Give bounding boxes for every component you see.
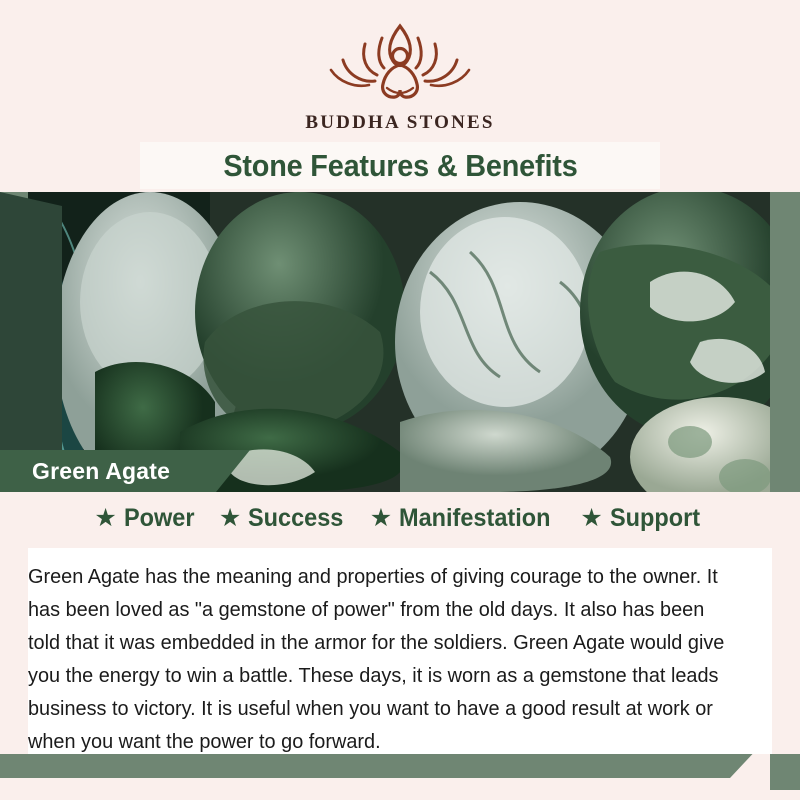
- lotus-meditation-icon: [325, 18, 475, 106]
- description-text: Green Agate has the meaning and properti…: [28, 560, 728, 758]
- brand-logo: BUDDHA STONES: [0, 18, 800, 134]
- brand-name: BUDDHA STONES: [305, 112, 494, 134]
- green-agate-stones-illustration: [0, 192, 800, 492]
- feature-item: ★ Power: [94, 504, 198, 533]
- header: BUDDHA STONES Stone Features & Benefits: [0, 0, 800, 192]
- star-icon: ★: [94, 506, 116, 531]
- feature-label: Manifestation: [399, 504, 550, 533]
- feature-item: ★ Support: [580, 504, 705, 533]
- page-title: Stone Features & Benefits: [223, 148, 577, 184]
- feature-label: Support: [610, 504, 700, 533]
- star-icon: ★: [219, 506, 241, 531]
- stone-name-banner: Green Agate: [0, 450, 250, 492]
- stone-name: Green Agate: [0, 458, 170, 485]
- features-row: ★ Power ★ Success ★ Manifestation ★ Supp…: [0, 492, 800, 533]
- star-icon: ★: [370, 506, 392, 531]
- star-icon: ★: [580, 506, 602, 531]
- feature-label: Success: [248, 504, 343, 533]
- stone-photo: [0, 192, 800, 492]
- feature-item: ★ Success: [219, 504, 350, 533]
- feature-label: Power: [124, 504, 195, 533]
- feature-item: ★ Manifestation: [370, 504, 561, 533]
- photo-left-accent: [0, 192, 62, 492]
- description-card: Green Agate has the meaning and properti…: [28, 548, 772, 754]
- title-band: Stone Features & Benefits: [140, 142, 660, 189]
